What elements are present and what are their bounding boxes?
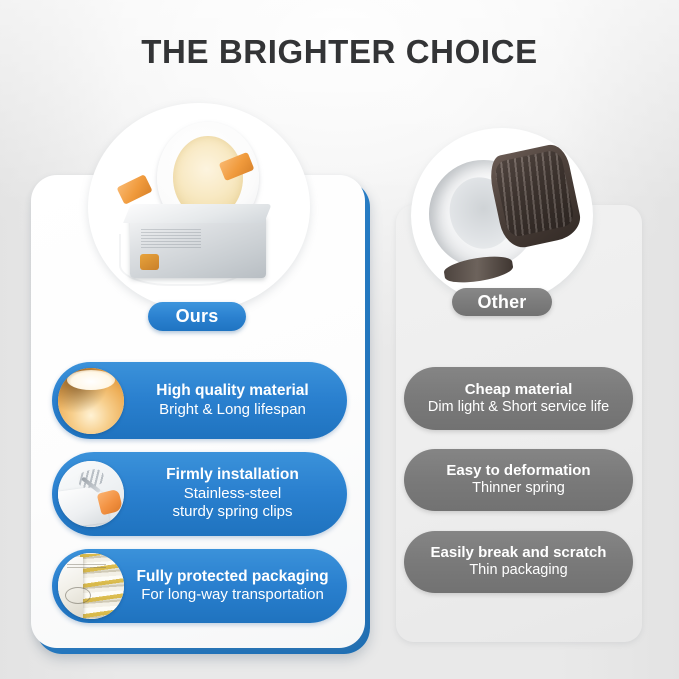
ours-feature-pill-1[interactable]: Firmly installation Stainless-steel stur… xyxy=(52,452,347,536)
warm-glowing-light-icon xyxy=(58,368,124,434)
other-feature-title-1: Easy to deformation xyxy=(414,462,623,480)
other-feature-title-2: Easily break and scratch xyxy=(414,544,623,562)
ours-feature-pill-2[interactable]: Fully protected packaging For long-way t… xyxy=(52,549,347,623)
junction-box-connector xyxy=(140,254,159,270)
ours-badge: Ours xyxy=(148,302,246,331)
spring-clip-icon xyxy=(58,461,124,527)
ours-feature-subtitle-0: Bright & Long lifespan xyxy=(126,401,339,419)
ours-feature-title-2: Fully protected packaging xyxy=(126,568,339,587)
other-feature-title-0: Cheap material xyxy=(414,381,623,399)
junction-box-icon xyxy=(130,215,265,277)
packaging-boxes-icon xyxy=(58,553,124,619)
ours-feature-pill-0[interactable]: High quality material Bright & Long life… xyxy=(52,362,347,439)
ours-feature-subtitle-1-line1: Stainless-steel xyxy=(126,485,339,503)
other-feature-pill-1[interactable]: Easy to deformation Thinner spring xyxy=(404,449,633,511)
ours-feature-subtitle-2: For long-way transportation xyxy=(126,586,339,604)
other-feature-subtitle-2: Thin packaging xyxy=(414,562,623,580)
other-feature-pill-0[interactable]: Cheap material Dim light & Short service… xyxy=(404,367,633,430)
ours-feature-text-0: High quality material Bright & Long life… xyxy=(124,382,347,419)
junction-box-lid xyxy=(124,204,272,223)
ours-feature-title-0: High quality material xyxy=(126,382,339,401)
other-feature-text-1: Easy to deformation Thinner spring xyxy=(404,462,633,498)
ours-feature-title-1: Firmly installation xyxy=(126,466,339,485)
spring-clip-left-icon xyxy=(117,174,153,204)
ours-product-image xyxy=(88,103,310,311)
other-badge: Other xyxy=(452,288,552,316)
other-feature-subtitle-1: Thinner spring xyxy=(414,480,623,498)
ours-feature-subtitle-1-line2: sturdy spring clips xyxy=(126,503,339,521)
ours-feature-text-2: Fully protected packaging For long-way t… xyxy=(124,568,347,605)
page-title: THE BRIGHTER CHOICE xyxy=(0,33,679,71)
junction-box-label xyxy=(141,229,201,250)
other-product-image xyxy=(411,128,593,303)
other-feature-pill-2[interactable]: Easily break and scratch Thin packaging xyxy=(404,531,633,593)
other-feature-subtitle-0: Dim light & Short service life xyxy=(414,399,623,417)
other-feature-text-0: Cheap material Dim light & Short service… xyxy=(404,381,633,417)
other-feature-text-2: Easily break and scratch Thin packaging xyxy=(404,544,633,580)
ours-feature-text-1: Firmly installation Stainless-steel stur… xyxy=(124,466,347,521)
